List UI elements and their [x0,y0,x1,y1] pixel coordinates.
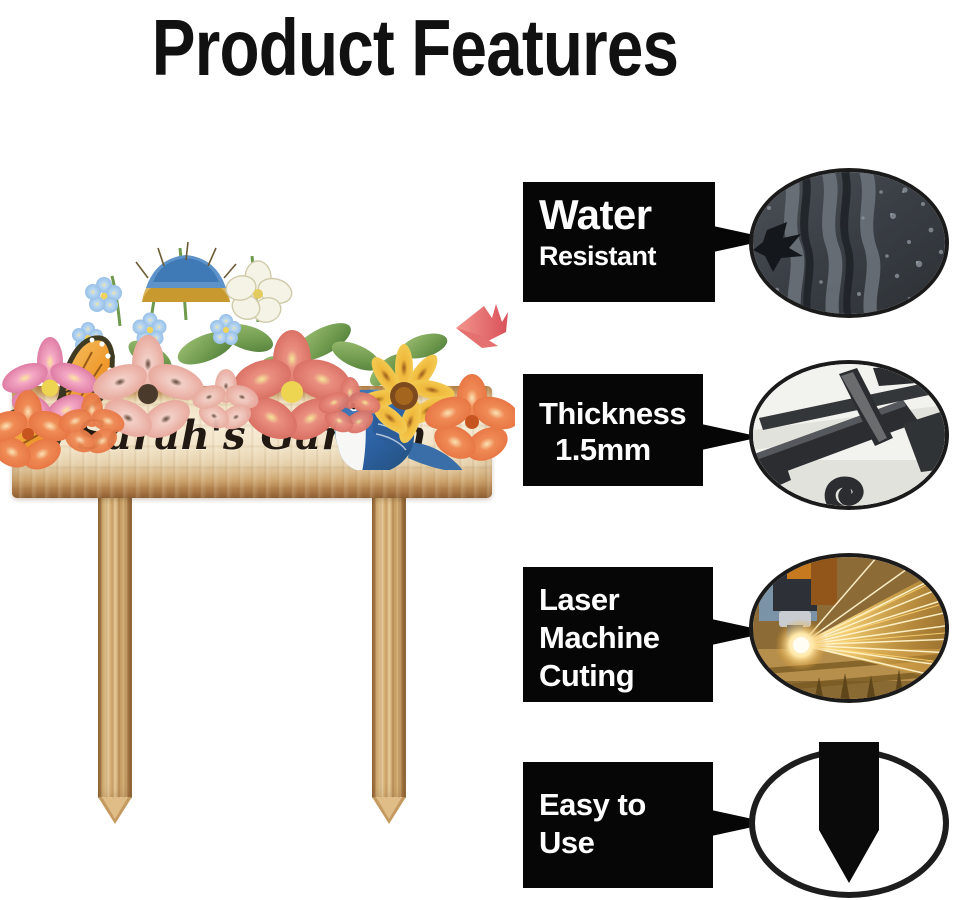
stake-tip-right [372,797,406,824]
feature-label-line-2: Use [539,824,699,862]
feature-label-line-2: 1.5mm [539,432,689,468]
feature-item-thickness: Thickness 1.5mm [515,360,954,510]
feature-item-easy-to-use: Easy to Use [515,748,954,898]
feature-media-laser-cutting [749,553,949,703]
feature-item-water-resistant: Water Resistant [515,168,954,318]
feature-media-ground-stake [749,748,949,898]
feature-label-line-3: Cuting [539,657,699,695]
blue-forget-me-nots [72,277,241,353]
white-blossom [224,261,295,326]
feature-label-line-1: Water [539,192,701,238]
feature-label-line-1: Laser [539,581,699,619]
feature-label-water-resistant: Water Resistant [523,182,715,302]
feature-list: Water Resistant [515,160,954,900]
feature-label-line-1: Thickness [539,396,689,432]
sign-board: Sarah's Garden [12,386,492,498]
wooden-stake-left [98,488,132,798]
feature-label-laser-cutting: Laser Machine Cuting [523,567,713,702]
flower-stems [112,248,258,328]
ground-stake-icon [819,742,879,883]
product-illustration: Sarah's Garden [0,170,515,860]
stake-point [819,830,879,883]
brown-center-bloom [136,242,236,302]
feature-label-easy-to-use: Easy to Use [523,762,713,888]
feature-media-metal-thickness [749,360,949,510]
stake-tip-left [98,797,132,824]
feature-media-water-droplets [749,168,949,318]
wooden-stake-right [372,488,406,798]
page-title: Product Features [75,4,756,92]
feature-label-line-2: Resistant [539,241,701,272]
leaf-cluster [72,315,450,391]
feature-item-laser-cutting: Laser Machine Cuting [515,553,954,703]
feature-label-thickness: Thickness 1.5mm [523,374,703,486]
feature-label-line-2: Machine [539,619,699,657]
pink-tube-flower [456,304,508,348]
sign-personalized-text: Sarah's Garden [12,412,492,460]
stake-shaft [819,742,879,830]
feature-label-line-1: Easy to [539,786,699,824]
